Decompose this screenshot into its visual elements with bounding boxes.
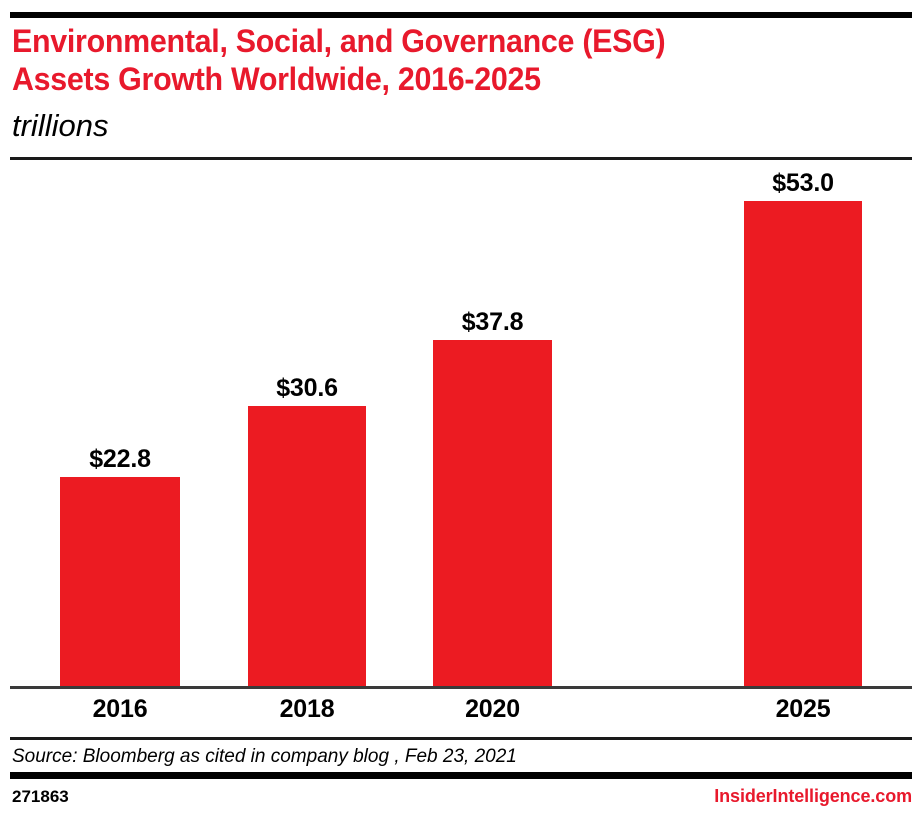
bar	[433, 340, 552, 686]
brand-link[interactable]: InsiderIntelligence.com	[714, 786, 912, 807]
x-axis-tick-label: 2016	[60, 695, 180, 723]
x-axis-tick-label: 2018	[248, 695, 366, 723]
top-divider	[10, 12, 912, 18]
page-title: Environmental, Social, and Governance (E…	[12, 22, 858, 98]
bar-value-label: $30.6	[248, 374, 366, 402]
x-axis-tick-label: 2020	[433, 695, 552, 723]
bar-value-label: $22.8	[60, 445, 180, 473]
bar	[60, 477, 180, 686]
chart-page: Environmental, Social, and Governance (E…	[0, 0, 922, 817]
bar-value-label: $37.8	[433, 308, 552, 336]
source-divider	[10, 737, 912, 740]
footer-divider	[10, 772, 912, 779]
x-axis-line	[10, 686, 912, 689]
bar	[744, 201, 862, 686]
bar-value-label: $53.0	[744, 169, 862, 197]
x-axis-tick-label: 2025	[744, 695, 862, 723]
chart-id: 271863	[12, 787, 69, 807]
chart-units-subtitle: trillions	[12, 108, 108, 144]
bar	[248, 406, 366, 686]
source-note: Source: Bloomberg as cited in company bl…	[12, 745, 517, 769]
bar-chart-plot-area: $22.82016$30.62018$37.82020$53.02025	[0, 160, 922, 726]
